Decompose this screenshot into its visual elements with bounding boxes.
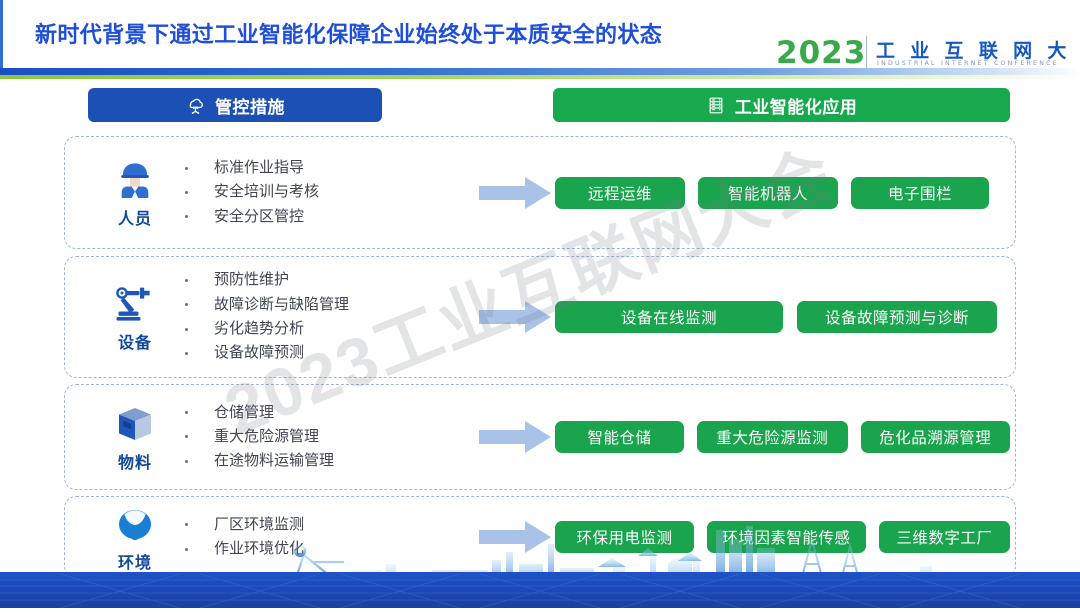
list-item-label: 安全分区管控: [214, 205, 304, 229]
table-row: 人员 标准作业指导 安全培训与考核 安全分区管控 远程运维 智能机器人 电子围栏: [64, 136, 1016, 249]
bullet-dot-icon: [185, 352, 188, 355]
chip[interactable]: 环保用电监测: [555, 521, 694, 553]
row-category: 物料: [95, 385, 175, 489]
chip[interactable]: 危化品溯源管理: [861, 421, 1010, 453]
chip[interactable]: 电子围栏: [851, 177, 989, 209]
list-item: 安全培训与考核: [185, 180, 319, 204]
chip[interactable]: 设备故障预测与诊断: [797, 301, 997, 333]
list-item: 作业环境优化: [185, 537, 304, 561]
row-bullet-list: 仓储管理 重大危险源管理 在途物料运输管理: [185, 385, 334, 489]
bullet-dot-icon: [185, 435, 188, 438]
list-item: 重大危险源管理: [185, 425, 334, 449]
list-item: 故障诊断与缺陷管理: [185, 293, 349, 317]
robot-arm-icon: [112, 281, 158, 327]
list-item: 安全分区管控: [185, 205, 319, 229]
cloud-network-icon: [185, 95, 206, 116]
list-item-label: 标准作业指导: [214, 156, 304, 180]
row-bullet-list: 厂区环境监测 作业环境优化: [185, 497, 304, 577]
list-item: 劣化趋势分析: [185, 317, 349, 341]
chip[interactable]: 设备在线监测: [555, 301, 783, 333]
list-item: 在途物料运输管理: [185, 449, 334, 473]
bullet-dot-icon: [185, 191, 188, 194]
water-band-decoration: [0, 572, 1080, 608]
list-item: 厂区环境监测: [185, 513, 304, 537]
logo-year-text: 2023: [776, 35, 866, 71]
row-bullet-list: 预防性维护 故障诊断与缺陷管理 劣化趋势分析 设备故障预测: [185, 257, 349, 377]
row-category: 环境: [95, 497, 175, 577]
list-item-label: 在途物料运输管理: [214, 449, 334, 473]
list-item-label: 预防性维护: [214, 268, 289, 292]
column-header-industrial-ai-apps-label: 工业智能化应用: [735, 93, 858, 118]
server-rack-icon: [706, 95, 726, 116]
page-header: 新时代背景下通过工业智能化保障企业始终处于本质安全的状态 2023 中国·苏州 …: [0, 0, 1080, 92]
bullet-dot-icon: [185, 548, 188, 551]
logo-conference-cn: 工 业 互 联 网 大 会: [876, 36, 1080, 63]
right-arrow-icon: [477, 517, 555, 557]
bullet-dot-icon: [185, 460, 188, 463]
header-rule-blue: [0, 68, 1080, 75]
right-arrow-icon: [477, 297, 555, 337]
table-row: 设备 预防性维护 故障诊断与缺陷管理 劣化趋势分析 设备故障预测 设备在线监测 …: [64, 256, 1016, 378]
chip[interactable]: 智能机器人: [698, 177, 838, 209]
row-chip-group: 远程运维 智能机器人 电子围栏: [555, 137, 1010, 248]
row-category: 人员: [95, 137, 175, 248]
page-title: 新时代背景下通过工业智能化保障企业始终处于本质安全的状态: [35, 17, 662, 49]
row-chip-group: 环保用电监测 环境因素智能传感 三维数字工厂: [555, 497, 1010, 577]
row-category-label: 设备: [118, 329, 152, 353]
row-category: 设备: [95, 257, 175, 377]
list-item-label: 劣化趋势分析: [214, 317, 304, 341]
list-item-label: 仓储管理: [214, 401, 274, 425]
leaf-shield-icon: [112, 501, 158, 547]
bullet-dot-icon: [185, 411, 188, 414]
worker-helmet-icon: [112, 157, 158, 203]
chip[interactable]: 重大危险源监测: [697, 421, 847, 453]
list-item-label: 厂区环境监测: [214, 513, 304, 537]
list-item: 预防性维护: [185, 268, 349, 292]
bullet-dot-icon: [185, 328, 188, 331]
row-category-label: 物料: [118, 449, 152, 473]
list-item: 设备故障预测: [185, 341, 349, 365]
column-header-control-measures[interactable]: 管控措施: [88, 88, 382, 122]
list-item: 标准作业指导: [185, 156, 319, 180]
bullet-dot-icon: [185, 303, 188, 306]
row-chip-group: 智能仓储 重大危险源监测 危化品溯源管理: [555, 385, 1010, 489]
bullet-dot-icon: [185, 523, 188, 526]
column-header-industrial-ai-apps[interactable]: 工业智能化应用: [553, 88, 1010, 122]
row-chip-group: 设备在线监测 设备故障预测与诊断: [555, 257, 1010, 377]
row-bullet-list: 标准作业指导 安全培训与考核 安全分区管控: [185, 137, 319, 248]
row-category-label: 环境: [118, 549, 152, 573]
list-item-label: 重大危险源管理: [214, 425, 319, 449]
bullet-dot-icon: [185, 167, 188, 170]
list-item-label: 安全培训与考核: [214, 180, 319, 204]
column-header-control-measures-label: 管控措施: [215, 93, 285, 118]
logo-conference-en: INDUSTRIAL INTERNET CONFERENCE: [877, 60, 1059, 67]
right-arrow-icon: [477, 173, 555, 213]
bullet-dot-icon: [185, 279, 188, 282]
chip[interactable]: 环境因素智能传感: [707, 521, 866, 553]
chip[interactable]: 智能仓储: [555, 421, 684, 453]
row-category-label: 人员: [118, 205, 152, 229]
bullet-dot-icon: [185, 215, 188, 218]
chip[interactable]: 远程运维: [555, 177, 685, 209]
list-item-label: 故障诊断与缺陷管理: [214, 293, 349, 317]
table-row: 环境 厂区环境监测 作业环境优化 环保用电监测 环境因素智能传感 三维数字工厂: [64, 496, 1016, 578]
table-row: 物料 仓储管理 重大危险源管理 在途物料运输管理 智能仓储 重大危险源监测 危化…: [64, 384, 1016, 490]
box-package-icon: [112, 401, 158, 447]
chip[interactable]: 三维数字工厂: [879, 521, 1010, 553]
header-rule-green: [0, 75, 1080, 79]
list-item: 仓储管理: [185, 401, 334, 425]
list-item-label: 设备故障预测: [214, 341, 304, 365]
right-arrow-icon: [477, 417, 555, 457]
list-item-label: 作业环境优化: [214, 537, 304, 561]
